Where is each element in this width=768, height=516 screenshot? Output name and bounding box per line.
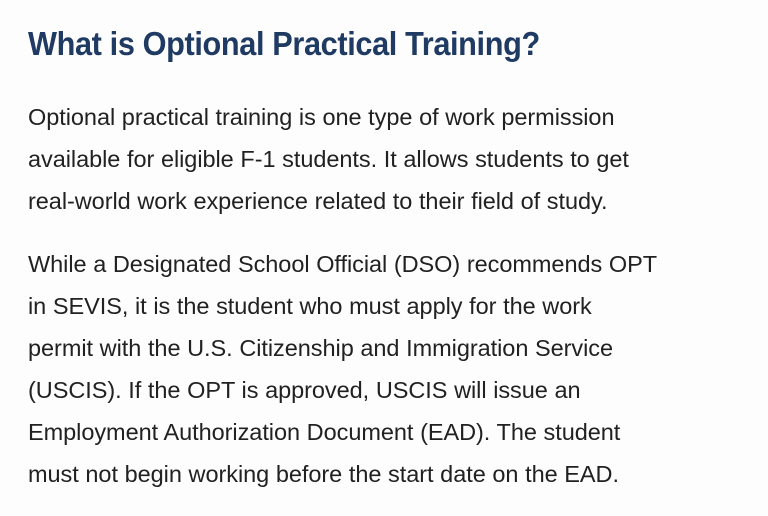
paragraph-line: must not begin working before the start … (28, 453, 752, 495)
paragraph-intro: Optional practical training is one type … (28, 96, 752, 222)
paragraph-line: While a Designated School Official (DSO)… (28, 243, 752, 285)
paragraph-process: While a Designated School Official (DSO)… (28, 243, 752, 495)
paragraph-line: Optional practical training is one type … (28, 96, 752, 138)
paragraph-line: Employment Authorization Document (EAD).… (28, 411, 752, 453)
article-body: Optional practical training is one type … (28, 96, 752, 495)
paragraph-line: (USCIS). If the OPT is approved, USCIS w… (28, 369, 752, 411)
page-title: What is Optional Practical Training? (28, 22, 698, 66)
paragraph-line: real-world work experience related to th… (28, 180, 752, 222)
paragraph-line: permit with the U.S. Citizenship and Imm… (28, 327, 752, 369)
paragraph-line: available for eligible F-1 students. It … (28, 138, 752, 180)
article-page: What is Optional Practical Training? Opt… (0, 0, 768, 516)
paragraph-line: in SEVIS, it is the student who must app… (28, 285, 752, 327)
